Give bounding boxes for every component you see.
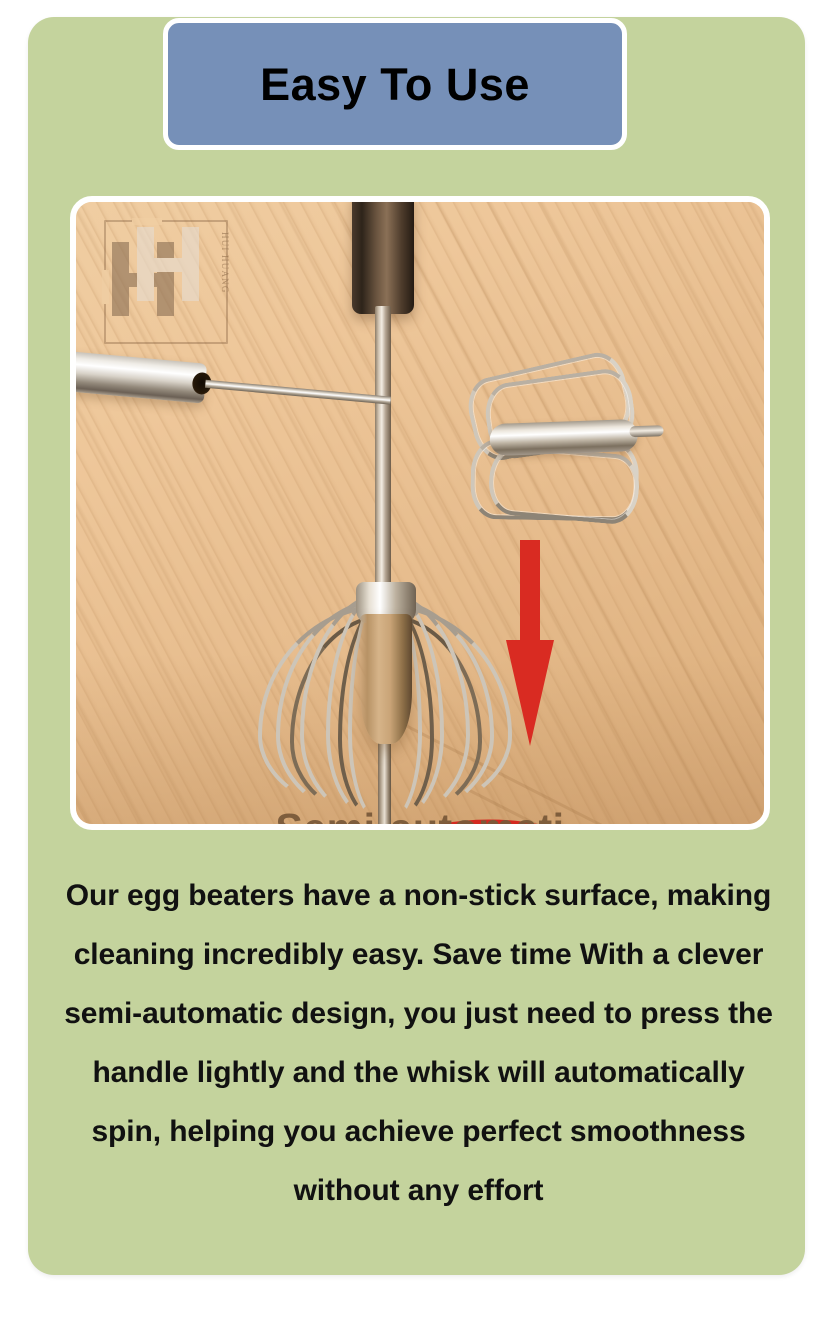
whisk-stub xyxy=(629,425,663,437)
watermark-h-front-icon xyxy=(137,227,199,301)
press-down-arrow-icon xyxy=(496,532,576,752)
page-title: Easy To Use xyxy=(260,62,530,107)
cage-center-cone xyxy=(360,614,412,744)
whisk-hub xyxy=(489,419,638,456)
watermark-brand-text: HUI HUANG xyxy=(220,232,230,294)
product-feature-card: Easy To Use HUI HUANG xyxy=(0,0,838,1318)
product-image-inner: HUI HUANG xyxy=(76,202,764,824)
whisk-cage xyxy=(252,584,520,824)
title-banner: Easy To Use xyxy=(163,18,627,150)
description-text: Our egg beaters have a non-stick surface… xyxy=(56,866,781,1220)
whisk-top-grip xyxy=(352,202,414,314)
brand-watermark: HUI HUANG xyxy=(104,220,228,344)
whisk-loop xyxy=(486,443,642,526)
photo-overlay-caption: Semi-automati xyxy=(76,805,764,824)
product-image: HUI HUANG xyxy=(70,196,770,830)
spare-whisk-head xyxy=(456,348,658,536)
